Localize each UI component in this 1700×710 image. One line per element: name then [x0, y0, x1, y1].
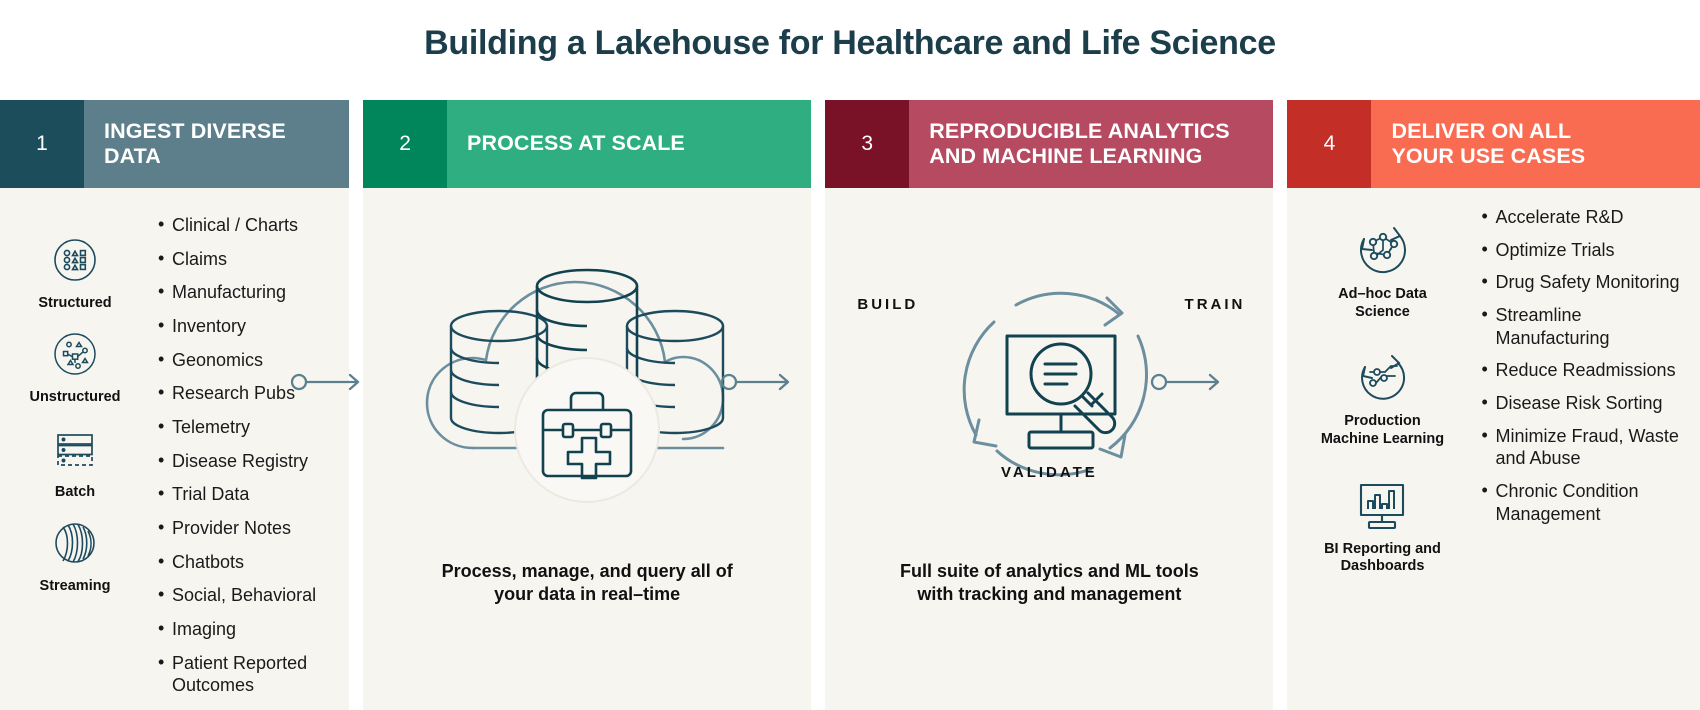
cycle-label-build: BUILD [857, 296, 918, 313]
list-item: Imaging [158, 618, 343, 641]
connector-arrow-1-to-2 [290, 370, 370, 394]
column-3-caption: Full suite of analytics and ML tools wit… [825, 560, 1273, 607]
list-item: Accelerate R&D [1481, 206, 1692, 229]
list-item: Trial Data [158, 483, 343, 506]
column-2-number: 2 [363, 100, 447, 188]
column-4-bullet-list: Accelerate R&DOptimize TrialsDrug Safety… [1477, 200, 1700, 710]
column-3-header: 3 REPRODUCIBLE ANALYTICS AND MACHINE LEA… [825, 100, 1273, 188]
icon-label-production-machine-learning: Production Machine Learning [1321, 413, 1444, 448]
list-item: Minimize Fraud, Waste and Abuse [1481, 425, 1692, 470]
icon-label-batch: Batch [55, 484, 95, 501]
production-machine-learning-icon [1351, 345, 1413, 407]
icon-item-production-machine-learning: Production Machine Learning [1287, 345, 1477, 448]
icon-item-adhoc-data-science: Ad–hoc Data Science [1287, 218, 1477, 321]
list-item: Provider Notes [158, 517, 343, 540]
list-item: Geonomics [158, 349, 343, 372]
column-1-body: Structured [0, 188, 349, 710]
list-item: Reduce Readmissions [1481, 359, 1692, 382]
connector-arrow-2-to-3 [720, 370, 800, 394]
column-3-title: REPRODUCIBLE ANALYTICS AND MACHINE LEARN… [909, 100, 1273, 188]
icon-item-bi-reporting-dashboards: BI Reporting and Dashboards [1287, 473, 1477, 576]
list-item: Streamline Manufacturing [1481, 304, 1692, 349]
column-1-bullet-list: Clinical / ChartsClaimsManufacturingInve… [150, 206, 349, 710]
cycle-label-validate: VALIDATE [839, 464, 1259, 481]
icon-item-batch: Batch [0, 421, 150, 501]
column-2-header: 2 PROCESS AT SCALE [363, 100, 811, 188]
column-4-body: Ad–hoc Data Science [1287, 188, 1700, 710]
column-1-icon-list: Structured [0, 206, 150, 710]
column-3-number: 3 [825, 100, 909, 188]
icon-label-structured: Structured [38, 295, 111, 312]
list-item: Optimize Trials [1481, 239, 1692, 262]
list-item: Disease Registry [158, 450, 343, 473]
list-item: Clinical / Charts [158, 214, 343, 237]
list-item: Inventory [158, 315, 343, 338]
column-reproducible-analytics: 3 REPRODUCIBLE ANALYTICS AND MACHINE LEA… [825, 100, 1273, 710]
list-item: Claims [158, 248, 343, 271]
structured-icon [47, 232, 103, 288]
icon-label-bi-reporting-dashboards: BI Reporting and Dashboards [1324, 541, 1441, 576]
column-2-caption: Process, manage, and query all of your d… [363, 560, 811, 607]
column-4-icon-list: Ad–hoc Data Science [1287, 200, 1477, 710]
column-3-body: BUILD TRAIN VALIDATE Full suite of analy… [825, 188, 1273, 710]
streaming-icon [47, 515, 103, 571]
page-title: Building a Lakehouse for Healthcare and … [0, 24, 1700, 63]
column-4-header: 4 DELIVER ON ALL YOUR USE CASES [1287, 100, 1700, 188]
icon-label-adhoc-data-science: Ad–hoc Data Science [1338, 286, 1427, 321]
adhoc-data-science-icon [1351, 218, 1413, 280]
column-4-title: DELIVER ON ALL YOUR USE CASES [1371, 100, 1700, 188]
unstructured-icon [47, 326, 103, 382]
list-item: Manufacturing [158, 281, 343, 304]
column-process-at-scale: 2 PROCESS AT SCALE [363, 100, 811, 710]
cycle-label-train: TRAIN [1185, 296, 1246, 313]
column-4-number: 4 [1287, 100, 1371, 188]
list-item: Social, Behavioral [158, 584, 343, 607]
connector-arrow-3-to-4 [1150, 370, 1230, 394]
diagram-root: Building a Lakehouse for Healthcare and … [0, 0, 1700, 710]
list-item: Patient Reported Outcomes [158, 652, 343, 697]
list-item: Disease Risk Sorting [1481, 392, 1692, 415]
columns-container: 1 INGEST DIVERSE DATA [0, 100, 1700, 710]
column-1-title: INGEST DIVERSE DATA [84, 100, 349, 188]
batch-icon [47, 421, 103, 477]
icon-item-unstructured: Unstructured [0, 326, 150, 406]
bi-reporting-dashboards-icon [1351, 473, 1413, 535]
column-deliver-on-use-cases: 4 DELIVER ON ALL YOUR USE CASES [1287, 100, 1700, 710]
column-ingest-diverse-data: 1 INGEST DIVERSE DATA [0, 100, 349, 710]
list-item: Chronic Condition Management [1481, 480, 1692, 525]
column-2-title: PROCESS AT SCALE [447, 100, 811, 188]
list-item: Chatbots [158, 551, 343, 574]
icon-label-streaming: Streaming [40, 578, 111, 595]
column-2-body: Process, manage, and query all of your d… [363, 188, 811, 710]
list-item: Telemetry [158, 416, 343, 439]
column-1-number: 1 [0, 100, 84, 188]
list-item: Drug Safety Monitoring [1481, 271, 1692, 294]
icon-item-streaming: Streaming [0, 515, 150, 595]
icon-item-structured: Structured [0, 232, 150, 312]
icon-label-unstructured: Unstructured [29, 389, 120, 406]
column-1-header: 1 INGEST DIVERSE DATA [0, 100, 349, 188]
